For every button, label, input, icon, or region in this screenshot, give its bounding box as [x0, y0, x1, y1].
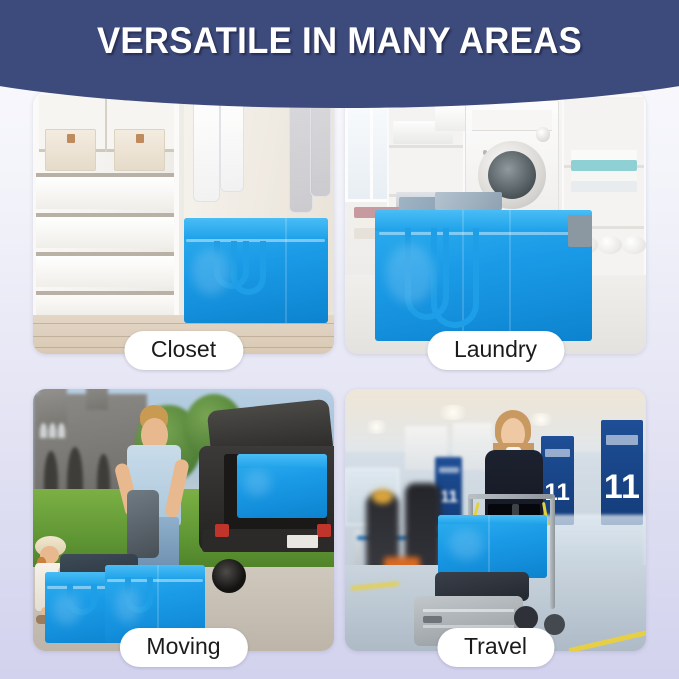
use-case-panel-laundry[interactable]: Laundry — [345, 92, 646, 354]
folded-towel-white — [571, 150, 637, 160]
blue-storage-bag — [438, 515, 546, 578]
washer-dial — [536, 127, 551, 142]
cart-handle-bar — [468, 494, 552, 499]
box-tag — [67, 134, 75, 143]
wardrobe-lower-shelf — [36, 291, 177, 317]
blue-storage-bag — [375, 210, 592, 341]
use-case-panel-moving[interactable]: Moving — [33, 389, 334, 651]
moving-photo — [33, 389, 334, 651]
wardrobe-drawer — [36, 213, 177, 248]
folded-towel-grey — [571, 181, 637, 191]
folded-towel-white — [571, 171, 637, 181]
suv-wheel — [212, 559, 246, 593]
cart-handle-post — [550, 494, 555, 609]
gate-sign: 11 — [601, 420, 643, 525]
wardrobe-drawer — [36, 252, 177, 287]
panel-label-laundry: Laundry — [427, 331, 564, 370]
bag-side-pocket — [568, 215, 592, 246]
garment-bag — [220, 97, 244, 191]
blue-storage-bag — [237, 454, 328, 518]
closet-photo — [33, 92, 334, 354]
garment-bag — [193, 97, 220, 202]
page-title: VERSATILE IN MANY AREAS — [20, 20, 658, 62]
panel-label-moving: Moving — [119, 628, 247, 667]
cart-wheel — [514, 606, 538, 630]
suv-vehicle — [184, 405, 335, 594]
laundry-photo — [345, 92, 646, 354]
bag-handle — [431, 228, 479, 328]
blue-storage-bag — [184, 218, 328, 323]
license-plate — [287, 535, 318, 548]
garment-bag — [310, 97, 331, 197]
folded-towel-teal — [571, 160, 637, 170]
gate-sign-number: 11 — [604, 468, 640, 507]
suitcase-latch — [423, 616, 443, 623]
use-case-panel-closet[interactable]: Closet — [33, 92, 334, 354]
bag-handle — [231, 241, 266, 295]
storage-box — [45, 129, 96, 171]
panel-label-closet: Closet — [124, 331, 243, 370]
panel-label-travel: Travel — [437, 628, 554, 667]
use-case-grid: Closet — [33, 92, 646, 662]
page-header: VERSATILE IN MANY AREAS — [0, 0, 679, 108]
wardrobe-frame-post — [174, 92, 179, 317]
use-case-panel-travel[interactable]: 11 11 11 — [345, 389, 646, 651]
backpack — [127, 490, 160, 558]
travel-photo: 11 11 11 — [345, 389, 646, 651]
box-tag — [136, 134, 144, 143]
folded-clothes — [435, 192, 501, 210]
wardrobe-drawer — [36, 173, 177, 208]
gate-sign-number: 11 — [440, 487, 458, 507]
storage-box — [114, 129, 165, 171]
